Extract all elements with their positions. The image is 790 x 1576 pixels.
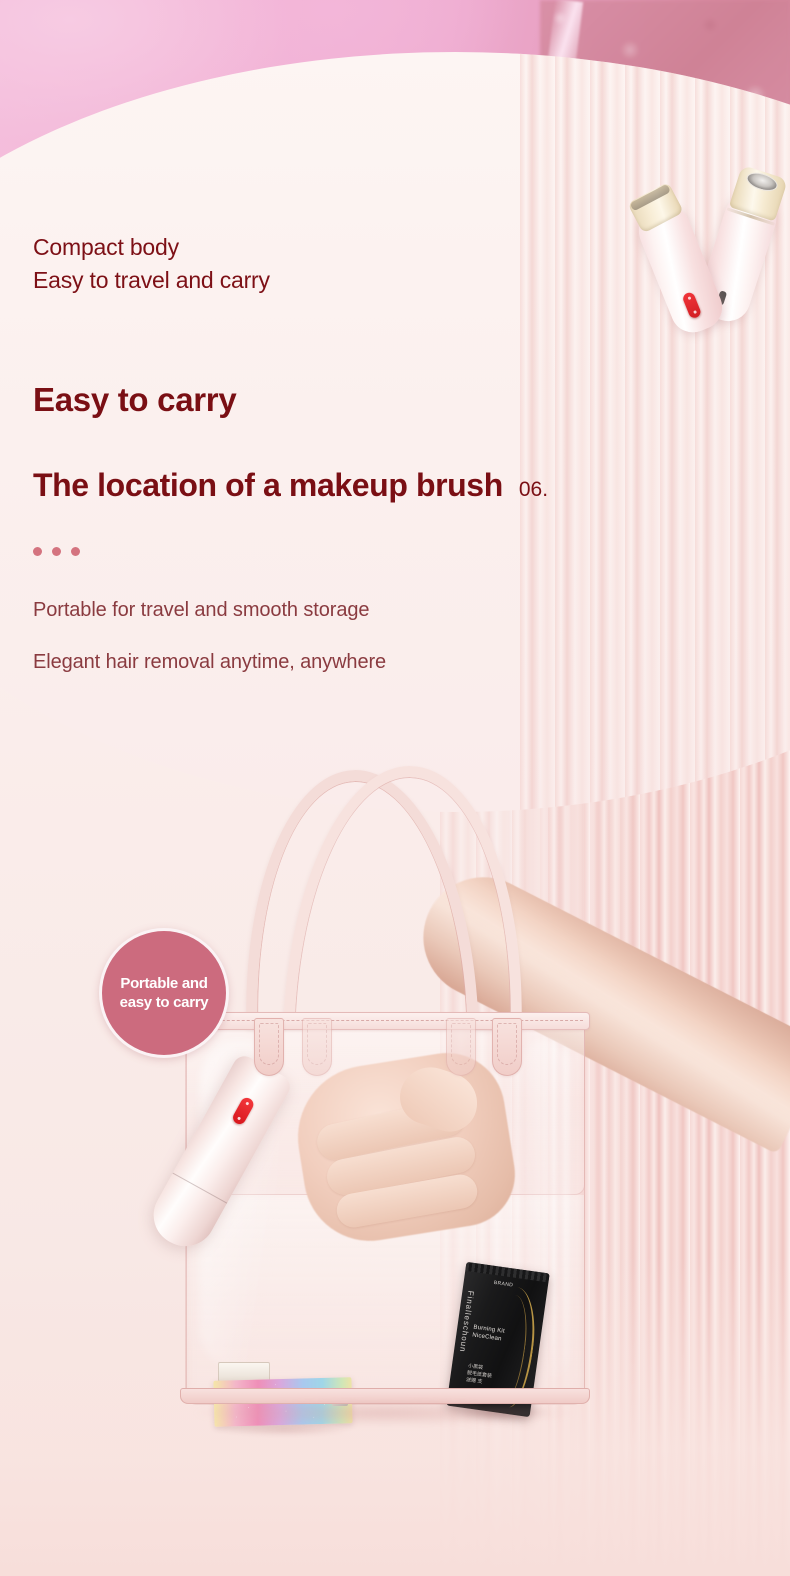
- packet-lower-text: 小黑袋 脱毛纸套装 送赠 支: [466, 1363, 494, 1387]
- subheading: Compact body Easy to travel and carry: [33, 231, 270, 297]
- dot-icon: [33, 547, 42, 556]
- trimmer-head: [627, 182, 684, 234]
- feature-text-1: Portable for travel and smooth storage: [33, 599, 369, 622]
- bag-strap-tab: [302, 1018, 332, 1076]
- power-button-red: [681, 291, 702, 320]
- headline-row: The location of a makeup brush 06.: [33, 467, 548, 504]
- portable-badge: Portable and easy to carry: [99, 928, 229, 1058]
- product-marketing-page: Compact body Easy to travel and carry Ea…: [0, 0, 790, 1576]
- dot-separator: [33, 547, 80, 556]
- bag-strap-tab: [492, 1018, 522, 1076]
- bag-top-rim: [180, 1012, 590, 1030]
- dot-icon: [71, 547, 80, 556]
- bag-ground-shadow: [195, 1400, 575, 1426]
- bag-strap-tab: [446, 1018, 476, 1076]
- packet-mid-text: Burning Kit NiceClean: [472, 1324, 505, 1344]
- packet-vertical-text: Finalleschoun: [458, 1290, 476, 1353]
- device-seam: [172, 1173, 227, 1204]
- bag-edge-right: [584, 1030, 585, 1400]
- bag-strap-tab: [254, 1018, 284, 1076]
- shaver-blade-ring: [744, 169, 779, 194]
- headline-secondary: The location of a makeup brush: [33, 467, 503, 504]
- power-button-red: [231, 1096, 256, 1127]
- feature-text-2: Elegant hair removal anytime, anywhere: [33, 651, 386, 674]
- section-number: 06.: [519, 478, 548, 502]
- packet-logo: BRAND: [493, 1280, 513, 1289]
- product-scene: BRAND Finalleschoun Burning Kit NiceClea…: [0, 740, 790, 1500]
- page-title: Easy to carry: [33, 381, 236, 419]
- product-devices-group: [632, 168, 790, 338]
- portable-badge-label: Portable and easy to carry: [120, 974, 209, 1012]
- background-arc-stripes: [0, 52, 790, 812]
- dot-icon: [52, 547, 61, 556]
